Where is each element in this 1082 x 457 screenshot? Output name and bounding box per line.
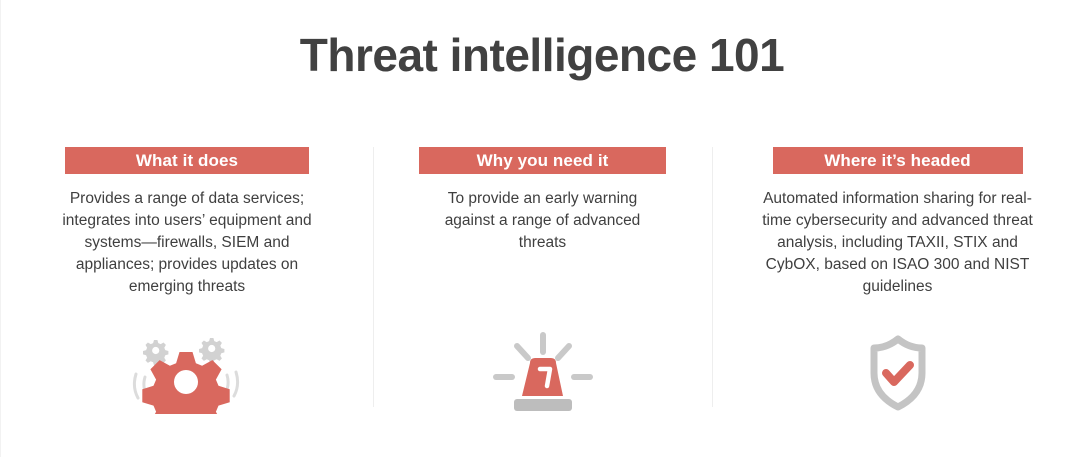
column-body-what-it-does: Provides a range of data services; integ… (52, 188, 322, 298)
column-body-where-its-headed: Automated information sharing for real-t… (762, 188, 1034, 298)
page-title: Threat intelligence 101 (1, 28, 1082, 83)
column-header-why-you-need-it: Why you need it (419, 147, 666, 174)
column-header-what-it-does: What it does (65, 147, 309, 174)
siren-icon-wrap (373, 332, 712, 414)
column-why-you-need-it: Why you need it To provide an early warn… (373, 147, 712, 417)
column-body-why-you-need-it: To provide an early warning against a ra… (427, 188, 659, 254)
shield-check-icon-wrap (712, 332, 1082, 414)
gears-icon-wrap (1, 332, 373, 414)
column-what-it-does: What it does Provides a range of data se… (1, 147, 373, 417)
siren-icon (490, 332, 596, 414)
column-where-its-headed: Where it’s headed Automated information … (712, 147, 1082, 417)
column-header-where-its-headed: Where it’s headed (773, 147, 1023, 174)
infographic-poster: Threat intelligence 101 What it does Pro… (0, 0, 1082, 457)
shield-check-icon (855, 332, 941, 414)
gears-icon (127, 332, 247, 414)
columns-container: What it does Provides a range of data se… (1, 147, 1082, 417)
